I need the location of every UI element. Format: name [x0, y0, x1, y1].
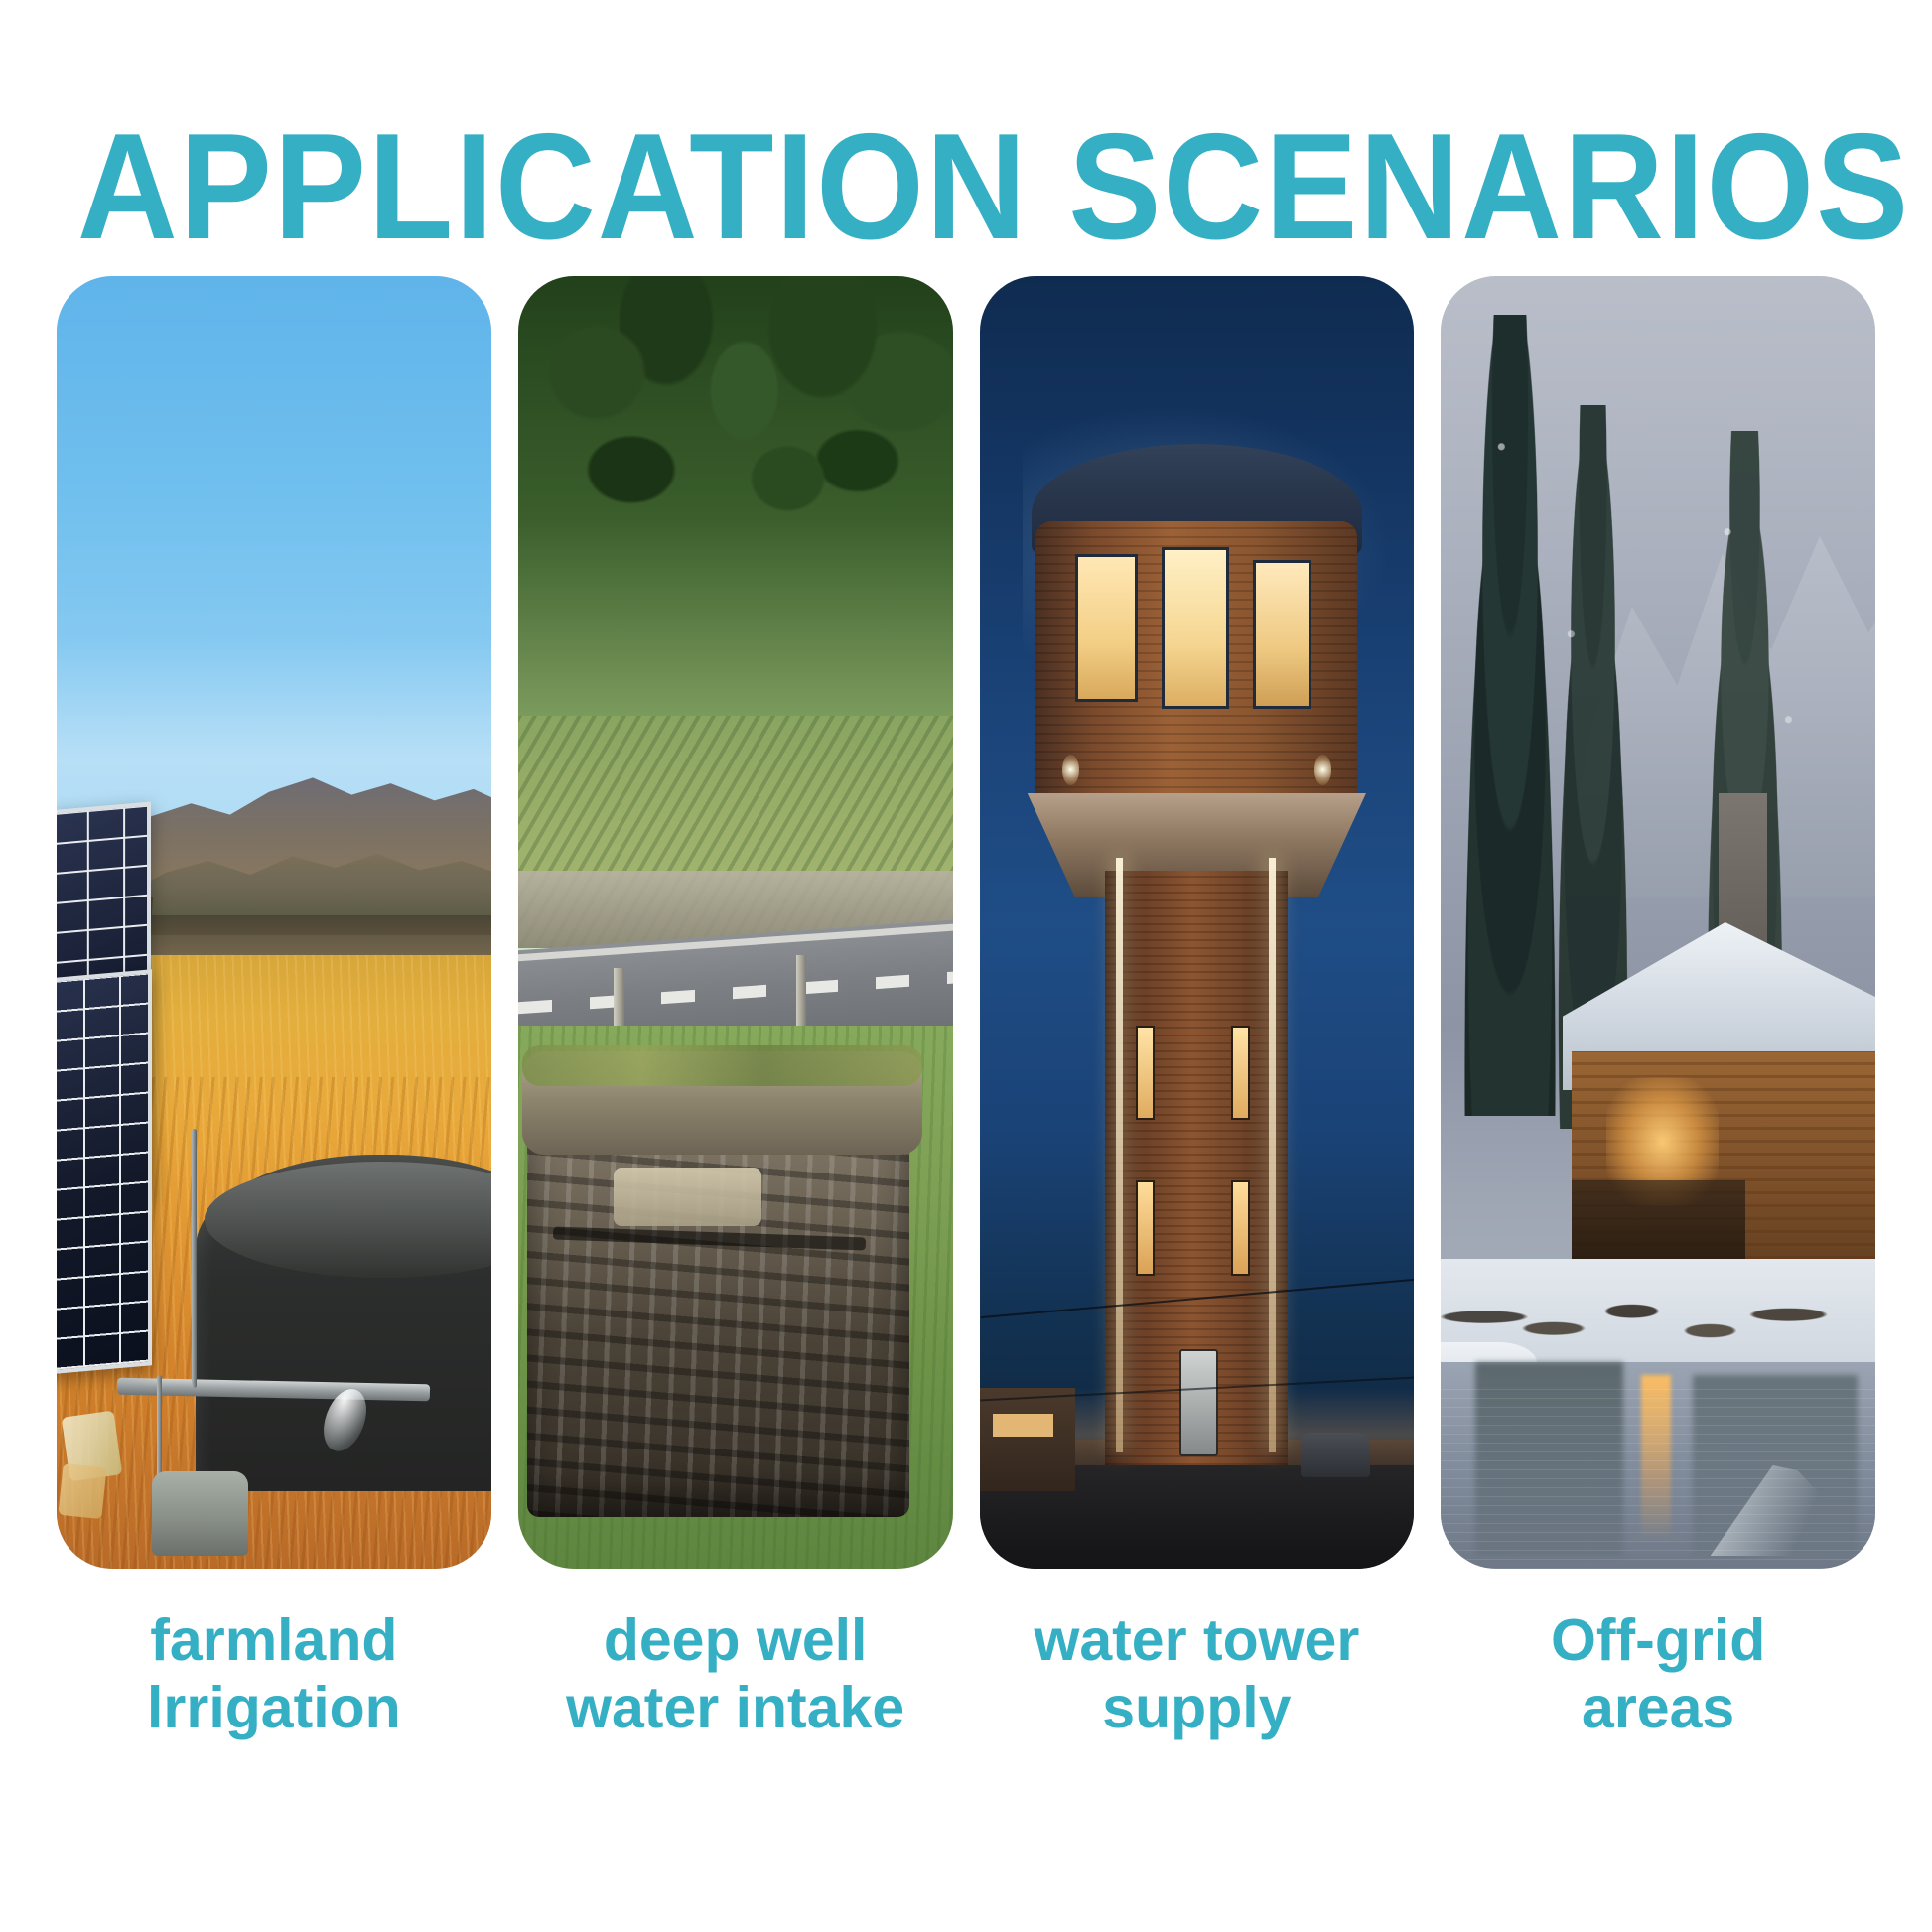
caption-line-2: water intake [518, 1674, 953, 1741]
scenario-image-water-tower-supply [980, 276, 1415, 1569]
shaft-window-3 [1136, 1180, 1155, 1275]
solar-panel-lower [57, 969, 152, 1374]
caption-line-2: areas [1441, 1674, 1875, 1741]
parked-car [1301, 1433, 1370, 1476]
background-building [980, 1388, 1075, 1491]
deep-well-scene [518, 276, 953, 1569]
scenario-image-off-grid-areas [1441, 276, 1875, 1569]
roadside-post-right [796, 955, 806, 1033]
water-tower-scene [980, 276, 1415, 1569]
scenario-image-row [57, 276, 1875, 1569]
shaft-window-1 [1136, 1026, 1155, 1120]
caption-line-1: water tower [980, 1606, 1415, 1674]
caption-line-2: supply [980, 1674, 1415, 1741]
led-strip-left [1116, 858, 1123, 1452]
tower-window-left [1075, 554, 1138, 702]
moss-layer [522, 1045, 922, 1087]
led-strip-right [1269, 858, 1276, 1452]
caption-line-1: farmland [57, 1606, 491, 1674]
page-title: APPLICATION SCENARIOS [77, 111, 1855, 262]
tower-window-right [1253, 560, 1311, 708]
background-building-window [993, 1414, 1053, 1437]
scenario-caption-water-tower-supply: water tower supply [980, 1606, 1415, 1742]
caption-line-2: lrrigation [57, 1674, 491, 1741]
pump-riser-pipe [192, 1129, 197, 1387]
spotlight-right [1314, 755, 1332, 785]
shaft-window-4 [1231, 1180, 1250, 1275]
scenario-caption-row: farmland lrrigation deep well water inta… [57, 1606, 1875, 1742]
scenario-caption-deep-well-water-intake: deep well water intake [518, 1606, 953, 1742]
application-scenarios-page: APPLICATION SCENARIOS [0, 0, 1932, 1932]
scenario-caption-off-grid-areas: Off-grid areas [1441, 1606, 1875, 1742]
stone-highlight [614, 1168, 761, 1226]
shaft-window-2 [1231, 1026, 1250, 1120]
caption-line-1: Off-grid [1441, 1606, 1875, 1674]
off-grid-scene [1441, 276, 1875, 1569]
scenario-caption-farmland-irrigation: farmland lrrigation [57, 1606, 491, 1742]
tower-window-center [1162, 547, 1228, 708]
scenario-image-farmland-irrigation [57, 276, 491, 1569]
caption-line-1: deep well [518, 1606, 953, 1674]
farmland-scene [57, 276, 491, 1569]
scenario-image-deep-well-water-intake [518, 276, 953, 1569]
tower-door [1179, 1349, 1218, 1456]
tree-canopy [518, 276, 953, 716]
field-debris-b [59, 1463, 107, 1519]
wellhead-base [152, 1471, 247, 1556]
spotlight-left [1062, 755, 1080, 785]
